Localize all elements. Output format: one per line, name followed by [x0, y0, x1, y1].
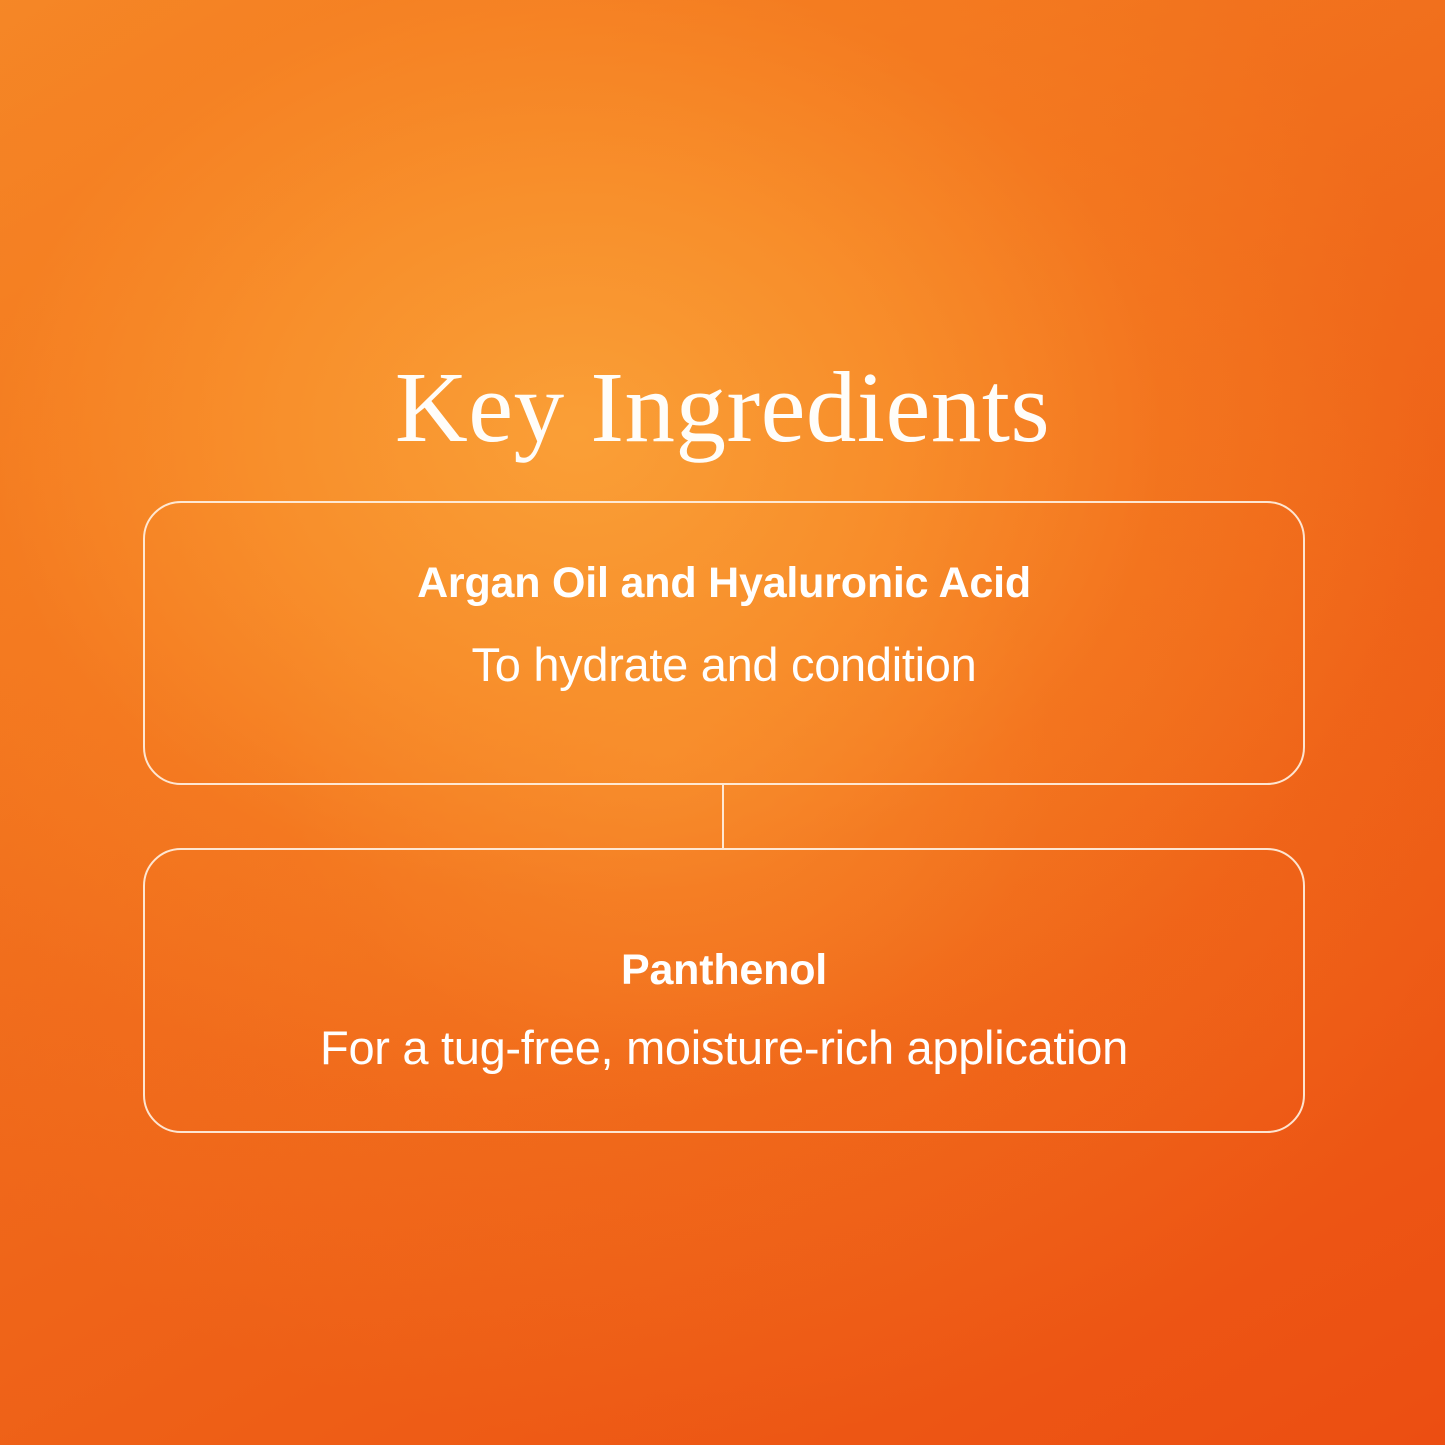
ingredient-heading: Argan Oil and Hyaluronic Acid — [417, 558, 1031, 609]
key-ingredients-poster: Key Ingredients Argan Oil and Hyaluronic… — [0, 0, 1445, 1445]
ingredient-card-argan-oil-hyaluronic-acid: Argan Oil and Hyaluronic Acid To hydrate… — [143, 501, 1305, 785]
card-body: Argan Oil and Hyaluronic Acid To hydrate… — [417, 558, 1031, 692]
vertical-connector-line — [722, 785, 724, 848]
ingredient-card-panthenol: Panthenol For a tug-free, moisture-rich … — [143, 848, 1305, 1133]
ingredient-benefit-text: For a tug-free, moisture-rich applicatio… — [320, 1020, 1128, 1075]
card-body: Panthenol For a tug-free, moisture-rich … — [320, 945, 1128, 1075]
ingredient-heading: Panthenol — [621, 945, 827, 996]
page-title: Key Ingredients — [0, 351, 1445, 464]
ingredient-benefit-text: To hydrate and condition — [472, 637, 977, 692]
